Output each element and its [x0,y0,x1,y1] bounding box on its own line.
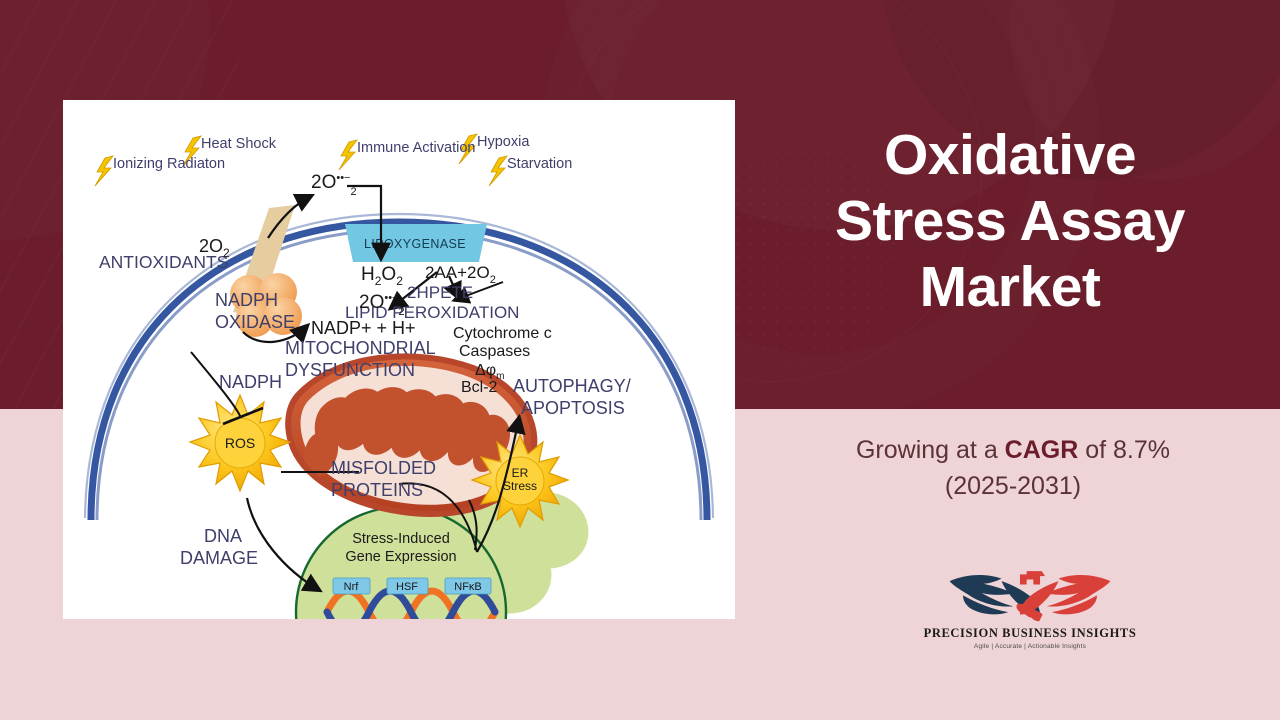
cytochrome-c-label: Cytochrome c [453,325,552,342]
stressor-label-heat-shock: Heat Shock [201,136,277,152]
tf-label-nrf: Nrf [344,581,360,593]
nadph-label: NADPH [219,372,282,392]
nadph-oxidase-label-1: NADPH [215,290,278,310]
cagr-prefix: Growing at a [856,436,1005,464]
tf-label-nfkb: NFκB [454,581,482,593]
cagr-emphasis: CAGR [1005,436,1079,464]
stressor-label-hypoxia: Hypoxia [477,134,530,150]
caspases-label: Caspases [459,343,530,360]
cagr-line: Growing at a CAGR of 8.7% [770,432,1256,468]
gene-expression-line-1: Stress-Induced [352,531,450,547]
eagle-handshake-icon [945,556,1115,628]
nadp-plus-h-label: NADP+ + H+ [311,318,416,338]
lightning-bolt-icon [95,156,113,186]
lightning-bolt-icon [489,156,507,186]
stressor-label-immune-activation: Immune Activation [357,140,475,156]
page-title: Oxidative Stress Assay Market [760,122,1260,320]
lightning-bolt-icon [339,140,357,170]
mitochondrial-dysfunction-label-1: MITOCHONDRIAL [285,338,436,358]
er-stress-label-2: Stress [503,479,537,493]
stressor-label-starvation: Starvation [507,156,572,172]
title-line-1: Oxidative [760,122,1260,188]
ros-burst: ROS [190,395,290,491]
slide-root: Oxidative Stress Assay Market Growing at… [0,0,1280,720]
title-line-3: Market [760,254,1260,320]
gene-expression-line-2: Gene Expression [345,549,456,565]
mitochondrial-dysfunction-label-2: DYSFUNCTION [285,360,415,380]
cagr-period: (2025-2031) [770,468,1256,504]
title-line-2: Stress Assay [760,188,1260,254]
lipid-peroxidation-hpete-label: 2HPETE [407,283,473,302]
ros-label: ROS [225,435,255,451]
stressor-label-ionizing-radiation: Ionizing Radiaton [113,156,225,172]
misfolded-proteins-label-2: PROTEINS [331,480,423,500]
logo-tagline: Agile | Accurate | Actionable Insights [915,643,1145,650]
hydrogen-peroxide-label: H2O2 [361,264,403,288]
cagr-subtitle: Growing at a CAGR of 8.7% (2025-2031) [770,432,1256,505]
cagr-value-text: of 8.7% [1078,436,1170,464]
diagram-card: Nrf HSF NFκB Stress-Induced Gene Express… [63,100,735,619]
dna-damage-label-1: DNA [204,526,242,546]
tf-label-hsf: HSF [396,581,418,593]
autophagy-label-2: APOPTOSIS [521,398,625,418]
lipoxygenase-enzyme: LIPOXYGENASE [345,224,487,262]
oxidative-stress-pathway-diagram: Nrf HSF NFκB Stress-Induced Gene Express… [63,100,735,619]
er-stress-label-1: ER [512,466,529,480]
dna-damage-label-2: DAMAGE [180,548,258,568]
lipoxygenase-label: LIPOXYGENASE [364,237,466,251]
autophagy-label-1: AUTOPHAGY/ [513,376,631,396]
transcription-factor-boxes: Nrf HSF NFκB [333,578,491,594]
bcl2-label: Bcl-2 [461,379,498,396]
nadph-oxidase-label-2: OXIDASE [215,312,295,332]
company-logo: PRECISION BUSINESS INSIGHTS Agile | Accu… [915,556,1145,668]
logo-company-name: PRECISION BUSINESS INSIGHTS [915,626,1145,641]
misfolded-proteins-label-1: MISFOLDED [331,458,436,478]
